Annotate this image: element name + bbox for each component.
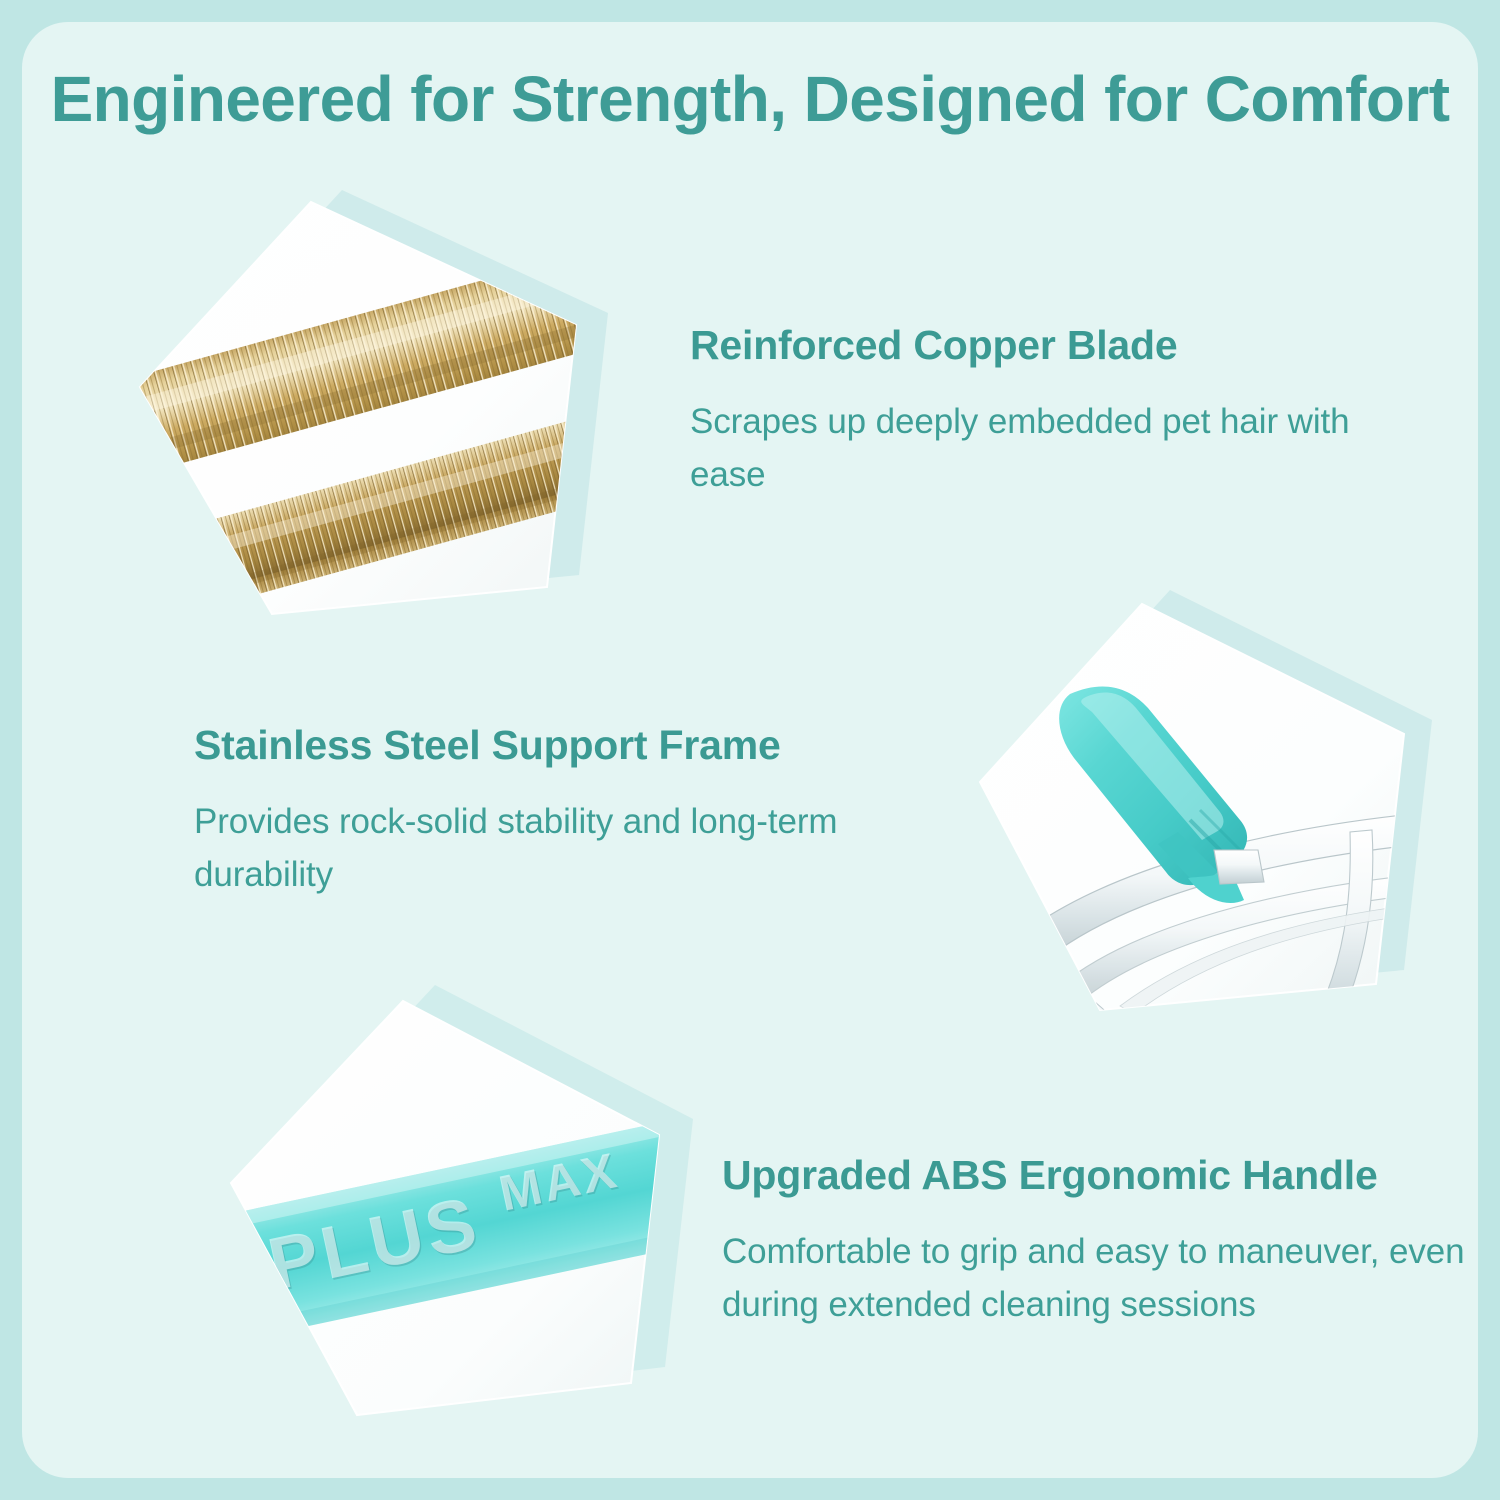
feature-text-copper-blade: Reinforced Copper Blade Scrapes up deepl… (690, 322, 1390, 502)
copper-blade-illustration (102, 182, 662, 652)
feature-text-support-frame: Stainless Steel Support Frame Provides r… (194, 722, 914, 902)
feature-image-support-frame (952, 582, 1452, 1052)
feature-text-ergonomic-handle: Upgraded ABS Ergonomic Handle Comfortabl… (722, 1152, 1478, 1332)
feature-heading-support-frame: Stainless Steel Support Frame (194, 722, 914, 769)
feature-image-ergonomic-handle: PLUS PLUS MAX MAX (207, 977, 707, 1457)
feature-image-copper-blade (102, 182, 662, 652)
feature-heading-copper-blade: Reinforced Copper Blade (690, 322, 1390, 369)
page-title: Engineered for Strength, Designed for Co… (22, 64, 1478, 134)
ergonomic-handle-illustration: PLUS PLUS MAX MAX (207, 977, 707, 1457)
feature-body-support-frame: Provides rock-solid stability and long-t… (194, 795, 914, 901)
support-frame-illustration (952, 582, 1452, 1052)
infographic-poster: Engineered for Strength, Designed for Co… (0, 0, 1500, 1500)
inner-panel: Engineered for Strength, Designed for Co… (22, 22, 1478, 1478)
feature-body-copper-blade: Scrapes up deeply embedded pet hair with… (690, 395, 1390, 501)
feature-heading-ergonomic-handle: Upgraded ABS Ergonomic Handle (722, 1152, 1478, 1199)
feature-body-ergonomic-handle: Comfortable to grip and easy to maneuver… (722, 1225, 1478, 1331)
